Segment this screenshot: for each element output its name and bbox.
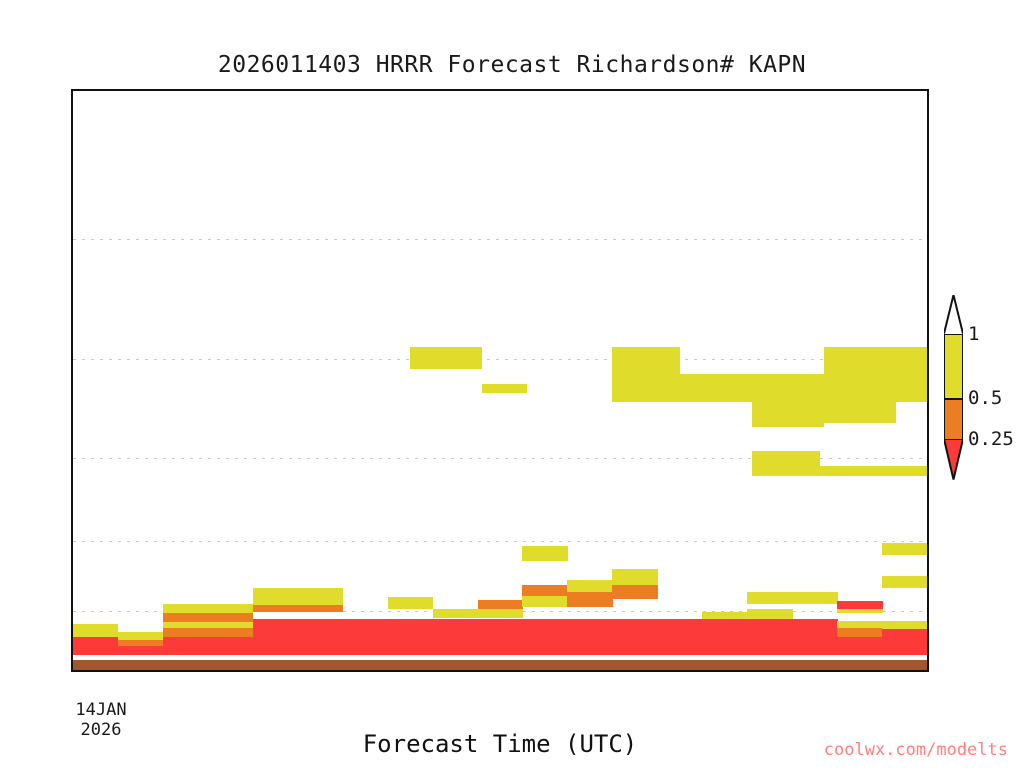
data-cell [73,624,118,637]
y-tick-mark [71,238,73,240]
data-cell [208,613,253,622]
data-cell [433,609,478,618]
data-cell [343,660,388,670]
gridline [73,541,927,542]
data-cell [837,660,882,670]
data-cell [163,613,208,622]
data-cell [298,660,343,670]
data-cell [702,619,747,655]
data-cell [792,660,837,670]
data-cell [478,600,523,609]
data-cell [896,347,929,403]
x-tick-mark [784,670,786,672]
data-cell [433,660,478,670]
data-cell [612,347,680,403]
data-cell [163,604,208,613]
data-cell [522,619,567,655]
colorbar-top-outline [944,295,963,335]
data-cell [747,592,792,604]
data-cell [482,384,527,393]
data-cell [680,374,752,402]
plot-area: 2002503003504004505005506006507007508008… [71,89,929,672]
data-cell [747,660,792,670]
watermark-link[interactable]: coolwx.com/modelts [824,740,1008,760]
data-cell [253,660,298,670]
data-cell [253,605,298,611]
data-cell [208,604,253,613]
data-cell [882,660,927,670]
data-cell [752,451,820,476]
data-cell [522,585,567,595]
data-cell [657,660,702,670]
y-tick-mark [71,457,73,459]
data-cell [253,637,298,655]
gridline [73,239,927,240]
y-tick-mark [71,626,73,628]
data-cell [657,619,702,655]
data-cell [298,588,343,605]
data-cell [410,347,482,370]
data-cell [747,619,792,655]
colorbar-divider [944,334,963,336]
data-cell [73,660,118,670]
y-tick-mark [71,661,73,663]
data-cell [612,585,657,599]
colorbar-tick-label: 1 [968,323,979,345]
data-cell [388,660,433,670]
x-tick-mark [926,670,928,672]
data-cell [298,619,343,655]
colorbar-divider [944,398,963,400]
colorbar-bottom-outline [944,439,963,481]
y-tick-mark [71,358,73,360]
y-tick-mark [71,168,73,170]
data-cell [824,347,896,423]
data-cell [522,546,567,561]
data-cell [208,660,253,670]
data-cell [522,596,567,608]
data-cell [612,619,657,655]
data-cell [163,628,208,637]
data-cell [478,609,523,618]
data-cell [702,612,747,620]
colorbar-tick-label: 0.25 [968,428,1014,450]
data-cell [752,374,824,427]
data-cell [612,660,657,670]
plot-canvas [73,91,927,670]
data-cell [388,619,433,655]
data-cell [73,637,118,655]
y-tick-mark [71,501,73,503]
data-cell [163,637,208,655]
y-tick-mark [71,301,73,303]
data-cell [882,629,927,654]
data-cell [522,660,567,670]
colorbar-segment-0.25-0.5 [944,398,963,438]
y-tick-mark [71,639,73,641]
data-cell [792,592,837,604]
gridline [73,359,927,360]
data-cell [478,660,523,670]
data-cell [567,619,612,655]
data-cell [567,580,612,593]
x-tick-mark [641,670,643,672]
data-cell [837,609,882,614]
page-title: 2026011403 HRRR Forecast Richardson# KAP… [0,52,1024,78]
y-tick-mark [71,666,73,668]
x-axis-title: Forecast Time (UTC) [71,730,929,758]
data-cell [612,569,657,585]
x-tick-mark [499,670,501,672]
data-cell [118,660,163,670]
data-cell [882,576,927,588]
y-tick-mark [71,576,73,578]
data-cell [163,660,208,670]
data-cell [819,466,891,476]
colorbar-legend: 10.50.25 [944,295,963,479]
data-cell [837,637,882,655]
data-cell [118,632,163,640]
data-cell [343,619,388,655]
data-cell [567,592,612,607]
data-cell [208,637,253,655]
data-cell [478,619,523,655]
data-cell [837,601,882,609]
data-cell [891,466,929,476]
x-tick-mark [357,670,359,672]
data-cell [702,660,747,670]
colorbar-segment-0.5-1 [944,334,963,398]
data-cell [792,619,837,655]
data-cell [388,597,433,609]
data-cell [837,628,882,637]
y-tick-mark [71,410,73,412]
data-cell [118,646,163,655]
data-cell [298,605,343,611]
colorbar-divider [944,439,963,441]
data-cell [837,621,882,628]
data-cell [567,660,612,670]
colorbar-tick-label: 0.5 [968,387,1002,409]
x-tick-mark [72,670,74,672]
data-cell [747,609,792,619]
y-tick-mark [71,90,73,92]
data-cell [433,619,478,655]
x-tick-mark [214,670,216,672]
y-tick-mark [71,610,73,612]
y-tick-mark [71,652,73,654]
data-cell [253,588,298,605]
data-cell [882,543,927,556]
data-cell [882,621,927,629]
data-cell [253,619,298,637]
data-cell [208,628,253,637]
y-tick-mark [71,540,73,542]
date-stamp: 14JAN 2026 [41,700,161,740]
